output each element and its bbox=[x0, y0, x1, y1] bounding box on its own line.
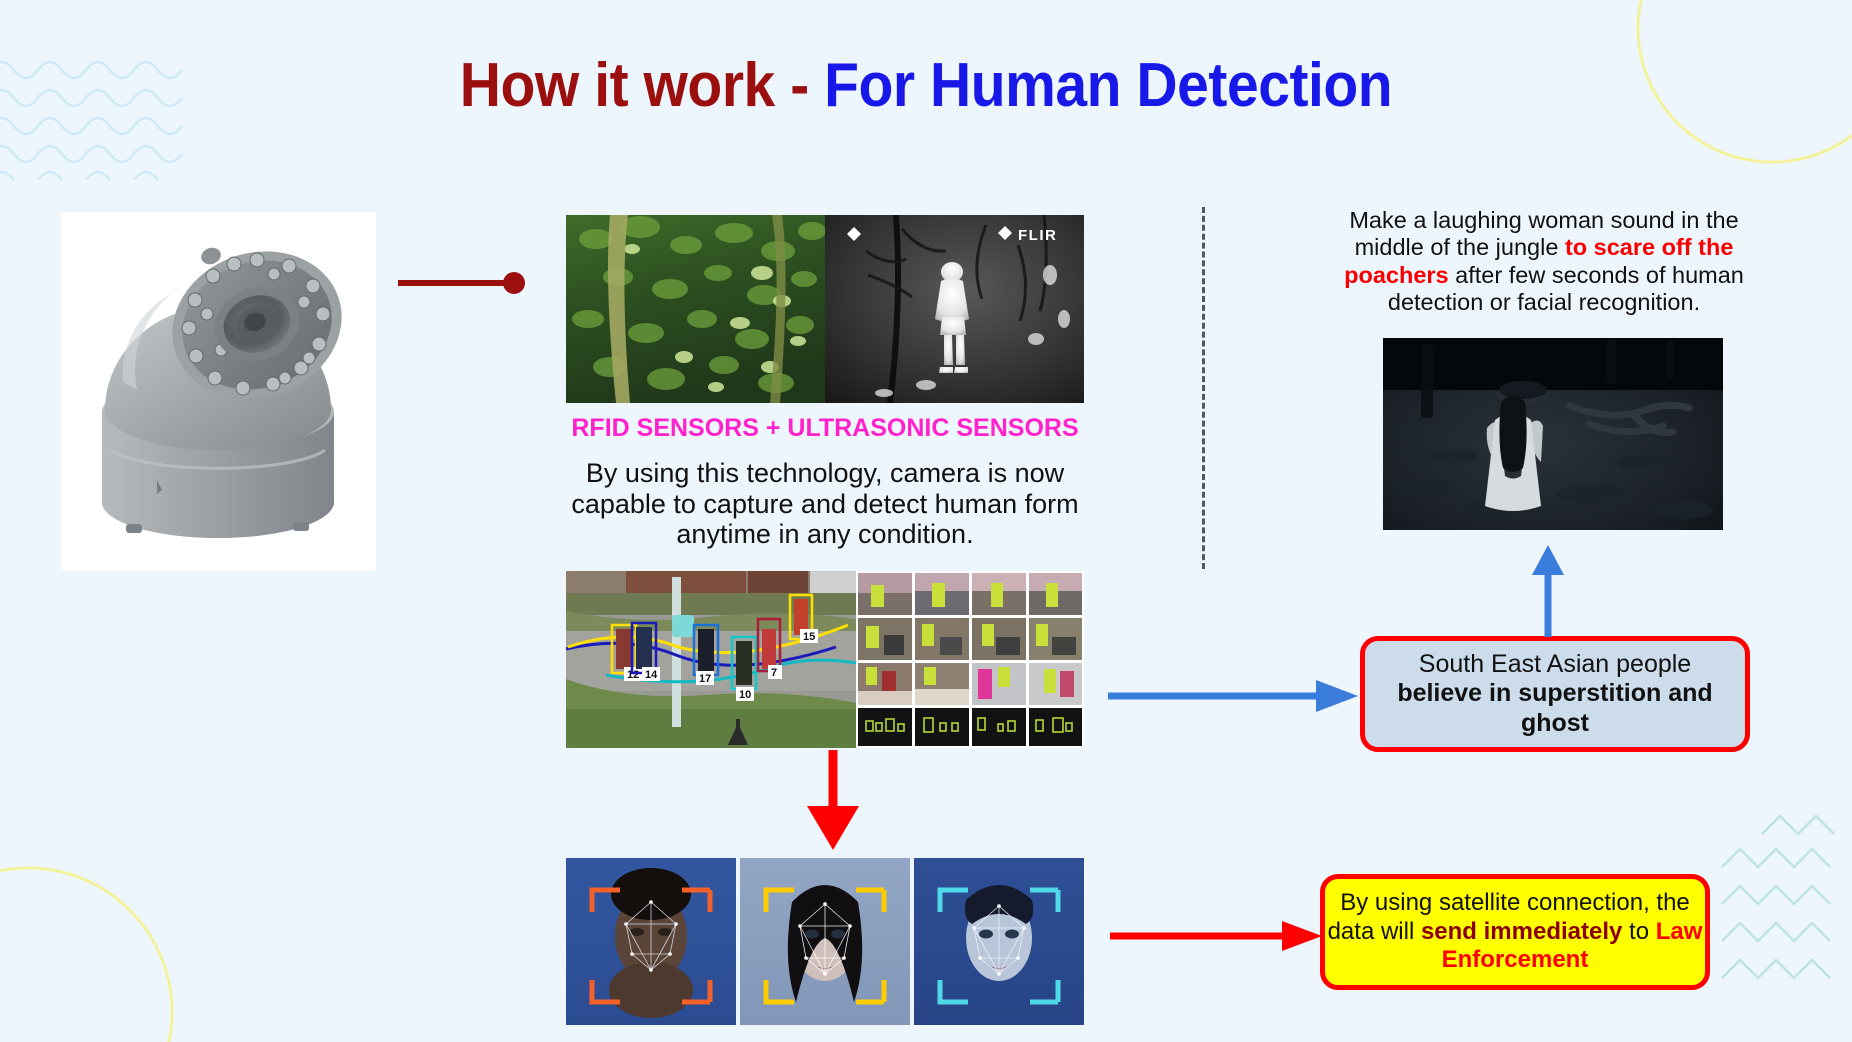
dome-cctv-camera-photo bbox=[61, 212, 376, 570]
page-title-part1: How it work bbox=[460, 51, 775, 120]
connector-line bbox=[398, 280, 510, 286]
arrow-red-down bbox=[805, 750, 861, 850]
ghost-in-forest-photo bbox=[1383, 338, 1723, 530]
right-intro-text: Make a laughing woman sound in the middl… bbox=[1330, 207, 1758, 316]
arrow-blue-up bbox=[1528, 545, 1568, 637]
svg-text:FLIR: FLIR bbox=[1018, 227, 1057, 244]
svg-text:10: 10 bbox=[739, 689, 751, 701]
arrow-red-right bbox=[1110, 918, 1322, 954]
connector-dot bbox=[503, 272, 525, 294]
arrow-blue-right bbox=[1108, 678, 1358, 714]
slide-root: How it work - For Human Detection bbox=[0, 0, 1852, 1042]
callout-superstition-line1: South East Asian people bbox=[1365, 650, 1745, 680]
svg-text:15: 15 bbox=[803, 631, 815, 643]
callout-satellite-text2: to bbox=[1622, 918, 1655, 945]
svg-text:14: 14 bbox=[645, 669, 658, 681]
flir-thermal-comparison-photo: FLIR bbox=[566, 215, 1084, 403]
page-title-dash: - bbox=[775, 51, 824, 120]
callout-satellite: By using satellite connection, the data … bbox=[1320, 874, 1710, 990]
circle-outline-decoration bbox=[0, 862, 178, 1042]
multi-person-tracking-photo: 12 14 17 10 7 15 bbox=[566, 571, 1084, 748]
callout-superstition: South East Asian people believe in super… bbox=[1360, 636, 1750, 752]
callout-superstition-line2: believe in superstition and ghost bbox=[1397, 679, 1712, 737]
callout-satellite-bold1: send immediately bbox=[1421, 918, 1622, 945]
facial-recognition-photo bbox=[566, 858, 1084, 1025]
dashed-vertical-divider bbox=[1202, 207, 1205, 569]
page-title: How it work - For Human Detection bbox=[74, 50, 1778, 121]
svg-text:17: 17 bbox=[699, 673, 711, 685]
page-title-part2: For Human Detection bbox=[824, 51, 1392, 120]
svg-text:7: 7 bbox=[771, 667, 777, 679]
center-heading: RFID SENSORS + ULTRASONIC SENSORS bbox=[520, 414, 1130, 443]
center-body-text: By using this technology, camera is now … bbox=[560, 458, 1090, 550]
